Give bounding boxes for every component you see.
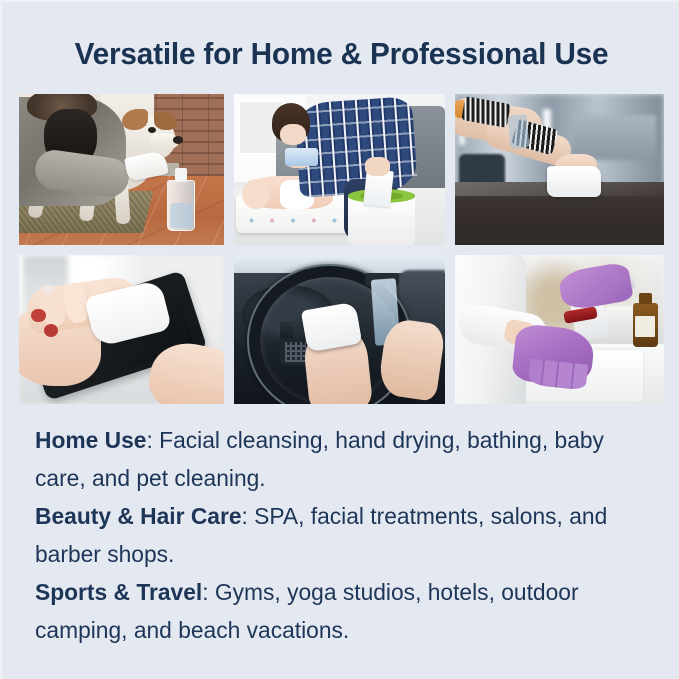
gallery-photo-pet-cleaning bbox=[19, 94, 224, 245]
gallery-photo-professional-clinic bbox=[455, 255, 664, 404]
gallery-photo-phone-cleaning bbox=[19, 255, 224, 404]
usage-separator-sports: : bbox=[202, 579, 215, 605]
usage-lead-beauty: Beauty & Hair Care bbox=[35, 503, 242, 529]
usage-item-beauty: Beauty & Hair Care: SPA, facial treatmen… bbox=[35, 497, 636, 573]
usage-lead-home: Home Use bbox=[35, 427, 146, 453]
usage-list: Home Use: Facial cleansing, hand drying,… bbox=[35, 421, 636, 649]
gallery-photo-office-surface bbox=[455, 94, 664, 245]
page-title: Versatile for Home & Professional Use bbox=[16, 36, 668, 72]
gallery-photo-baby-care bbox=[234, 94, 445, 245]
usage-lead-sports: Sports & Travel bbox=[35, 579, 202, 605]
usage-separator-home: : bbox=[146, 427, 159, 453]
usage-separator-beauty: : bbox=[242, 503, 255, 529]
usage-photo-gallery bbox=[19, 94, 664, 404]
gallery-photo-car-interior bbox=[234, 255, 445, 404]
product-feature-panel: Versatile for Home & Professional Use bbox=[0, 0, 679, 679]
usage-item-home: Home Use: Facial cleansing, hand drying,… bbox=[35, 421, 636, 497]
usage-item-sports: Sports & Travel: Gyms, yoga studios, hot… bbox=[35, 573, 636, 649]
